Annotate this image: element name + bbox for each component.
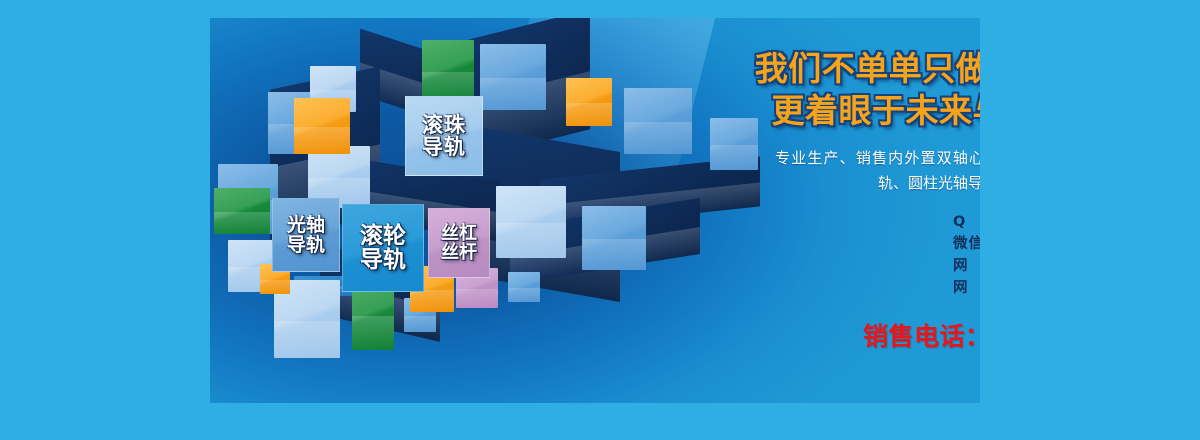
banner-text-column: 我们不单单只做您目前的订单 更着眼于未来与您长期合作 专业生产、销售内外置双轴心… — [745, 48, 980, 353]
contact-row-website-1[interactable]: 网 址： Www.Zxdgzc.Com — [953, 255, 980, 277]
contact-info-block: Q Q： 80286553 微信号： zxdgzc （直线导轨轴承） 网 址： … — [745, 211, 980, 299]
product-label-gunlun-daogui[interactable]: 滚轮 导轨 — [342, 204, 424, 292]
decorative-cube-blue — [508, 272, 540, 302]
banner-inner-panel: 滚珠 导轨 光轴 导轨 滚轮 导轨 丝杠 丝杆 我们不单单只做您目前的订单 更着… — [210, 18, 980, 403]
headline-line-2: 更着眼于未来与您长期合作 — [745, 90, 980, 132]
product-label-line2: 导轨 — [287, 235, 325, 255]
website2-label: 网 址： — [953, 277, 980, 299]
decorative-cube-green — [214, 188, 270, 234]
product-label-gunzhu-daogui[interactable]: 滚珠 导轨 — [405, 96, 483, 176]
decorative-cube-orange — [566, 78, 612, 126]
product-label-line2: 导轨 — [422, 136, 466, 158]
headline-line-1: 我们不单单只做您目前的订单 — [745, 48, 980, 90]
product-label-line1: 滚轮 — [360, 224, 406, 248]
decorative-cube-orange — [294, 98, 350, 154]
sales-phone-line: 销售电话：18357860469 — [745, 317, 980, 353]
product-label-line1: 滚珠 — [422, 114, 466, 136]
sales-phone-label: 销售电话： — [863, 322, 980, 351]
product-label-line2: 丝杆 — [441, 243, 477, 262]
qq-label: Q Q： — [953, 211, 980, 233]
product-label-guangzhou-daogui[interactable]: 光轴 导轨 — [272, 198, 340, 272]
decorative-cube-blue — [582, 206, 646, 270]
wechat-label: 微信号： — [953, 233, 980, 255]
product-label-sigang-sigan[interactable]: 丝杠 丝杆 — [428, 208, 490, 278]
promotional-banner: 滚珠 导轨 光轴 导轨 滚轮 导轨 丝杠 丝杆 我们不单单只做您目前的订单 更着… — [0, 0, 1200, 440]
product-label-line2: 导轨 — [360, 248, 406, 272]
headline: 我们不单单只做您目前的订单 更着眼于未来与您长期合作 — [745, 48, 980, 132]
contact-row-qq: Q Q： 80286553 — [953, 211, 980, 233]
decorative-cube-blue — [480, 44, 546, 110]
website1-label: 网 址： — [953, 255, 980, 277]
contact-row-wechat: 微信号： zxdgzc （直线导轨轴承） — [953, 233, 980, 255]
decorative-cube-blue — [496, 186, 566, 258]
company-description: 专业生产、销售内外置双轴心滚轮直线导轨、滚珠直线导轨、圆柱光轴导轨、丝杠丝杆、直… — [745, 146, 980, 195]
contact-row-website-2[interactable]: 网 址： Www.Cnzxdg.Com — [953, 277, 980, 299]
decorative-cube-green — [422, 40, 474, 102]
product-label-line1: 光轴 — [287, 215, 325, 235]
decorative-cube-blue — [624, 88, 692, 154]
product-label-line1: 丝杠 — [441, 224, 477, 243]
